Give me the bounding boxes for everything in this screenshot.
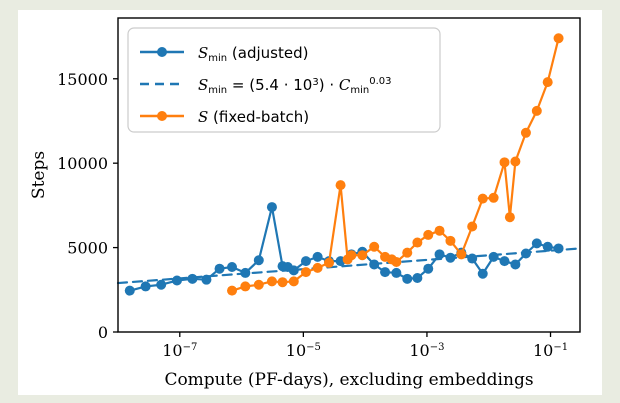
data-point (467, 254, 477, 264)
data-point (423, 264, 433, 274)
data-point (521, 128, 531, 138)
data-point (500, 157, 510, 167)
data-point (227, 286, 237, 296)
data-point (141, 281, 151, 291)
data-point (125, 286, 135, 296)
data-point (172, 276, 182, 286)
data-point (435, 226, 445, 236)
scaling-law-chart: 10−710−510−310−1 050001000015000 Compute… (18, 10, 602, 395)
data-point (380, 267, 390, 277)
data-point (391, 268, 401, 278)
legend-label-s-fixed-batch: S (fixed-batch) (198, 108, 309, 126)
data-point (391, 257, 401, 267)
y-tick-label: 10000 (57, 154, 108, 173)
y-tick-label: 0 (98, 323, 108, 342)
data-point (187, 274, 197, 284)
data-point (336, 180, 346, 190)
x-tick-label: 10−3 (409, 341, 444, 360)
data-point (554, 243, 564, 253)
data-point (313, 252, 323, 262)
chart-legend: Smin (adjusted) Smin = (5.4 · 103) · Cmi… (128, 28, 440, 132)
data-point (346, 250, 356, 260)
data-point (478, 269, 488, 279)
figure-canvas: 10−710−510−310−1 050001000015000 Compute… (18, 10, 602, 395)
data-point (445, 236, 455, 246)
data-point (423, 230, 433, 240)
data-point (456, 249, 466, 259)
x-axis-ticks: 10−710−510−310−1 (162, 332, 568, 360)
data-point (489, 252, 499, 262)
legend-swatch-marker-orange (157, 111, 167, 121)
data-point (505, 212, 515, 222)
data-point (543, 77, 553, 87)
data-point (267, 276, 277, 286)
x-tick-label: 10−5 (286, 341, 321, 360)
data-point (227, 262, 237, 272)
y-axis-label: Steps (29, 151, 49, 199)
data-point (500, 256, 510, 266)
y-tick-label: 5000 (67, 239, 108, 258)
data-point (240, 281, 250, 291)
data-point (254, 255, 264, 265)
data-point (402, 248, 412, 258)
data-point (254, 280, 264, 290)
data-point (412, 273, 422, 283)
data-point (369, 242, 379, 252)
data-point (357, 250, 367, 260)
x-axis-label: Compute (PF-days), excluding embeddings (164, 370, 533, 390)
data-point (301, 267, 311, 277)
y-tick-label: 15000 (57, 70, 108, 89)
data-point (412, 238, 422, 248)
x-tick-label: 10−1 (533, 341, 568, 360)
data-point (532, 238, 542, 248)
data-point (156, 280, 166, 290)
y-axis-ticks: 050001000015000 (57, 70, 118, 342)
data-point (435, 249, 445, 259)
data-point (510, 259, 520, 269)
data-point (278, 277, 288, 287)
legend-swatch-marker (157, 47, 167, 57)
data-point (215, 264, 225, 274)
data-point (313, 263, 323, 273)
data-point (324, 258, 334, 268)
data-point (289, 276, 299, 286)
data-point (478, 194, 488, 204)
data-point (510, 156, 520, 166)
data-point (554, 33, 564, 43)
data-point (267, 202, 277, 212)
data-point (532, 106, 542, 116)
data-point (467, 221, 477, 231)
x-tick-label: 10−7 (162, 341, 197, 360)
data-point (402, 274, 412, 284)
data-point (489, 193, 499, 203)
data-point (301, 256, 311, 266)
